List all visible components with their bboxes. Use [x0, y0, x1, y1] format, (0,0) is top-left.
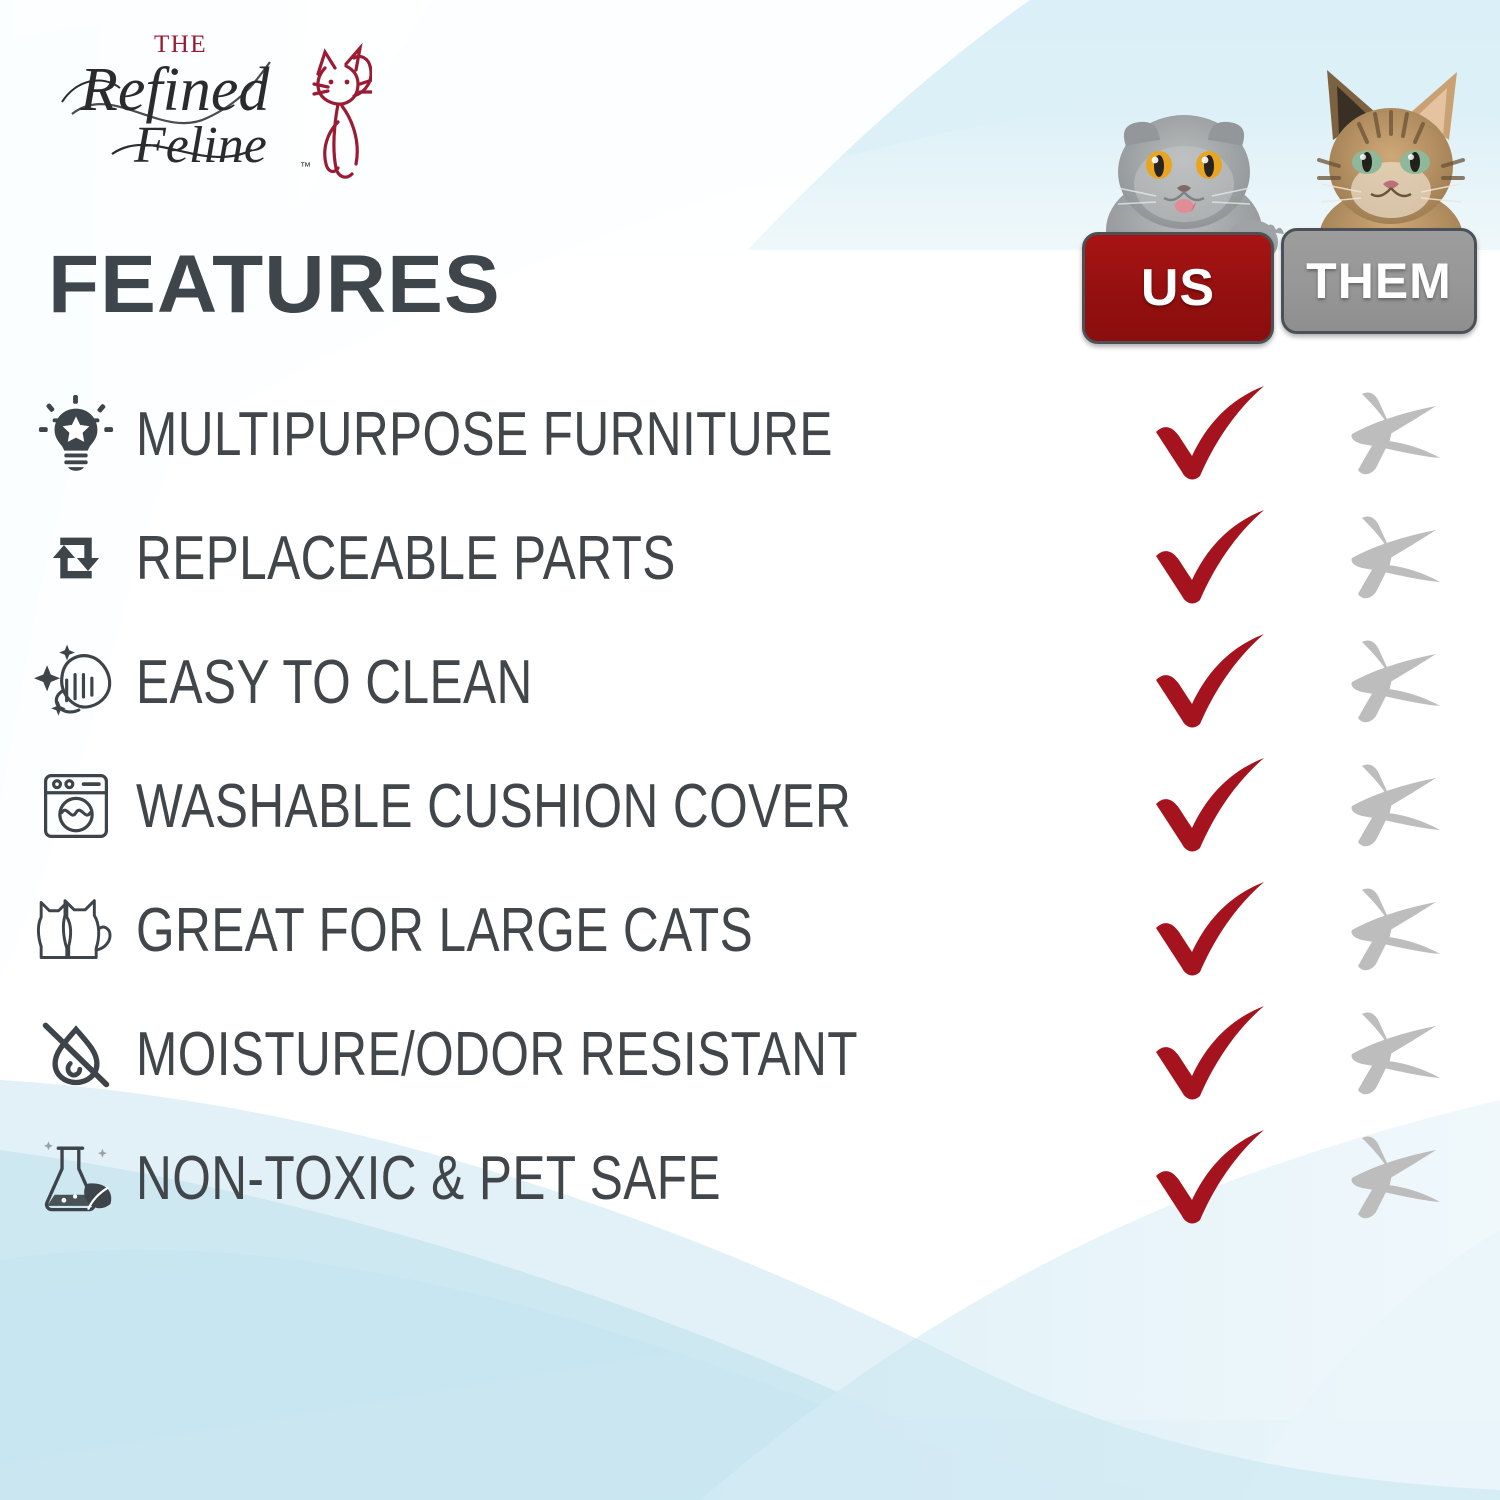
feature-label: WASHABLE CUSHION COVER [136, 771, 851, 842]
flask-leaf-icon [28, 1134, 124, 1222]
red-check-mark-icon [1152, 384, 1272, 484]
lightbulb-star-icon [28, 390, 124, 478]
feature-row: MOISTURE/ODOR RESISTANT [0, 992, 1500, 1116]
feature-label: GREAT FOR LARGE CATS [136, 895, 753, 966]
feature-row: EASY TO CLEAN [0, 620, 1500, 744]
logo-the-text: THE [154, 31, 207, 58]
grey-x-mark-icon [1340, 636, 1450, 728]
badge-them-label: THEM [1306, 252, 1452, 310]
red-check-mark-icon [1152, 632, 1272, 732]
feature-row: GREAT FOR LARGE CATS [0, 868, 1500, 992]
refresh-arrows-icon [28, 514, 124, 602]
grey-x-mark-icon [1340, 512, 1450, 604]
badge-them[interactable]: THEM [1281, 228, 1477, 334]
comparison-header: US THEM [1078, 80, 1478, 345]
grey-x-mark-icon [1340, 760, 1450, 852]
feature-label: NON-TOXIC & PET SAFE [136, 1143, 721, 1214]
feature-row: WASHABLE CUSHION COVER [0, 744, 1500, 868]
infographic-root: THE Refined Feline ™ [0, 0, 1500, 1500]
feature-row: MULTIPURPOSE FURNITURE [0, 372, 1500, 496]
feature-row: REPLACEABLE PARTS [0, 496, 1500, 620]
washing-machine-icon [28, 762, 124, 850]
feature-label: MOISTURE/ODOR RESISTANT [136, 1019, 858, 1090]
grey-x-mark-icon [1340, 388, 1450, 480]
two-cats-icon [28, 886, 124, 974]
red-check-mark-icon [1152, 1004, 1272, 1104]
red-check-mark-icon [1152, 1128, 1272, 1228]
logo-refined-text: Refined [79, 56, 270, 124]
wiping-hand-sparkle-icon [28, 638, 124, 726]
red-check-mark-icon [1152, 756, 1272, 856]
page-title: FEATURES [48, 238, 501, 332]
red-check-mark-icon [1152, 508, 1272, 608]
feature-list: MULTIPURPOSE FURNITURE REPLACEABLE PARTS [0, 372, 1500, 1240]
badge-us[interactable]: US [1082, 232, 1274, 344]
cat-silhouette-logo-icon [314, 48, 372, 177]
feature-row: NON-TOXIC & PET SAFE [0, 1116, 1500, 1240]
badge-us-label: US [1141, 258, 1215, 318]
feature-label: MULTIPURPOSE FURNITURE [136, 399, 833, 470]
brand-logo-art: THE Refined Feline ™ [42, 22, 372, 182]
feature-label: EASY TO CLEAN [136, 647, 533, 718]
grey-x-mark-icon [1340, 1008, 1450, 1100]
logo-tm-text: ™ [300, 161, 311, 173]
no-water-drop-icon [28, 1010, 124, 1098]
red-check-mark-icon [1152, 880, 1272, 980]
grey-x-mark-icon [1340, 884, 1450, 976]
grey-x-mark-icon [1340, 1132, 1450, 1224]
brand-logo[interactable]: THE Refined Feline ™ [42, 22, 372, 182]
feature-label: REPLACEABLE PARTS [136, 523, 676, 594]
